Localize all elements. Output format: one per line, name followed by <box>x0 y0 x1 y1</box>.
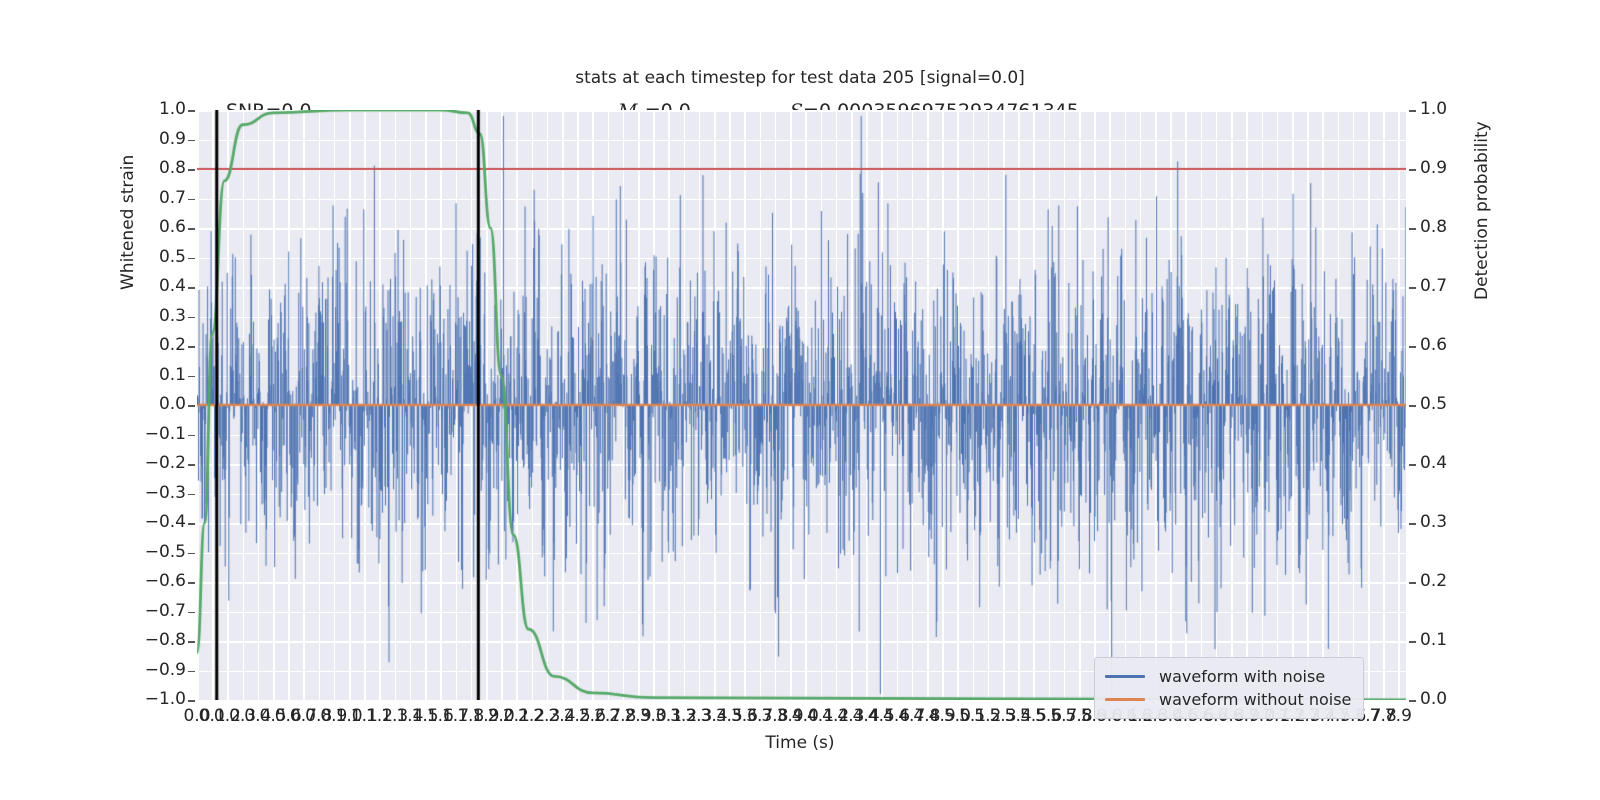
page-title: stats at each timestep for test data 205… <box>0 68 1600 88</box>
y-tick-mark-left <box>188 612 195 614</box>
y-tick-label-left: 1.0 <box>159 99 186 119</box>
y-tick-label-right: 0.0 <box>1420 689 1447 709</box>
x-axis-label: Time (s) <box>0 733 1600 753</box>
y-tick-label-left: −0.2 <box>145 453 186 473</box>
y-tick-mark-right <box>1409 641 1416 643</box>
y-tick-label-left: 0.5 <box>159 247 186 267</box>
y-tick-label-right: 0.5 <box>1420 394 1447 414</box>
y-tick-label-left: −0.3 <box>145 483 186 503</box>
plot-root: stats at each timestep for test data 205… <box>0 0 1600 800</box>
y-tick-mark-left <box>188 523 195 525</box>
y-tick-mark-left <box>188 553 195 555</box>
y-tick-mark-right <box>1409 110 1416 112</box>
y-tick-label-left: 0.0 <box>159 394 186 414</box>
y-tick-mark-left <box>188 317 195 319</box>
y-tick-label-left: 0.3 <box>159 306 186 326</box>
y-tick-label-left: −0.5 <box>145 542 186 562</box>
y-tick-label-right: 0.4 <box>1420 453 1447 473</box>
y-tick-label-right: 0.1 <box>1420 630 1447 650</box>
y-tick-mark-right <box>1409 582 1416 584</box>
y-tick-label-left: 0.4 <box>159 276 186 296</box>
legend-label-waveform-with-noise: waveform with noise <box>1159 667 1325 686</box>
y-tick-label-left: 0.8 <box>159 158 186 178</box>
y-tick-label-right: 0.6 <box>1420 335 1447 355</box>
y-tick-mark-left <box>188 110 195 112</box>
y-tick-mark-left <box>188 228 195 230</box>
y-tick-label-right: 0.8 <box>1420 217 1447 237</box>
legend-swatch-waveform-with-noise <box>1105 675 1145 678</box>
y-tick-mark-left <box>188 435 195 437</box>
y-tick-mark-left <box>188 199 195 201</box>
y-tick-mark-left <box>188 700 195 702</box>
y-tick-label-left: −0.7 <box>145 601 186 621</box>
legend-label-waveform-without-noise: waveform without noise <box>1159 690 1351 709</box>
y-tick-mark-left <box>188 287 195 289</box>
y-tick-mark-right <box>1409 287 1416 289</box>
y-tick-label-left: 0.7 <box>159 188 186 208</box>
legend-item: waveform without noise <box>1105 688 1351 711</box>
y-tick-label-left: 0.2 <box>159 335 186 355</box>
y-tick-mark-left <box>188 346 195 348</box>
y-tick-mark-right <box>1409 346 1416 348</box>
y-tick-mark-right <box>1409 523 1416 525</box>
y-tick-mark-left <box>188 169 195 171</box>
y-tick-label-left: −0.4 <box>145 512 186 532</box>
y-tick-label-left: −1.0 <box>145 689 186 709</box>
y-tick-mark-left <box>188 376 195 378</box>
y-tick-label-left: −0.9 <box>145 660 186 680</box>
y-tick-mark-right <box>1409 700 1416 702</box>
legend: waveform with noise waveform without noi… <box>1094 657 1364 719</box>
y-tick-mark-left <box>188 494 195 496</box>
y-tick-mark-right <box>1409 169 1416 171</box>
y-tick-mark-left <box>188 671 195 673</box>
y-tick-label-right: 0.3 <box>1420 512 1447 532</box>
y-tick-mark-left <box>188 464 195 466</box>
y-tick-mark-left <box>188 641 195 643</box>
y-tick-mark-right <box>1409 228 1416 230</box>
y-tick-mark-left <box>188 582 195 584</box>
y-tick-label-right: 0.7 <box>1420 276 1447 296</box>
y-tick-label-left: 0.6 <box>159 217 186 237</box>
legend-item: waveform with noise <box>1105 665 1351 688</box>
y-axis-label-left: Whitened strain <box>118 155 138 290</box>
y-tick-label-left: −0.1 <box>145 424 186 444</box>
y-tick-label-right: 1.0 <box>1420 99 1447 119</box>
y-tick-label-left: 0.1 <box>159 365 186 385</box>
y-tick-mark-left <box>188 140 195 142</box>
y-tick-label-right: 0.2 <box>1420 571 1447 591</box>
legend-swatch-waveform-without-noise <box>1105 698 1145 701</box>
plot-area <box>197 110 1406 700</box>
y-axis-label-right: Detection probability <box>1472 121 1492 300</box>
x-tick-label: 7.9 <box>1385 706 1412 726</box>
y-tick-label-left: −0.6 <box>145 571 186 591</box>
y-tick-mark-left <box>188 405 195 407</box>
y-tick-mark-left <box>188 258 195 260</box>
y-tick-label-right: 0.9 <box>1420 158 1447 178</box>
y-tick-label-left: −0.8 <box>145 630 186 650</box>
y-tick-mark-right <box>1409 405 1416 407</box>
waveform-canvas <box>197 110 1406 700</box>
y-tick-label-left: 0.9 <box>159 129 186 149</box>
y-tick-mark-right <box>1409 464 1416 466</box>
